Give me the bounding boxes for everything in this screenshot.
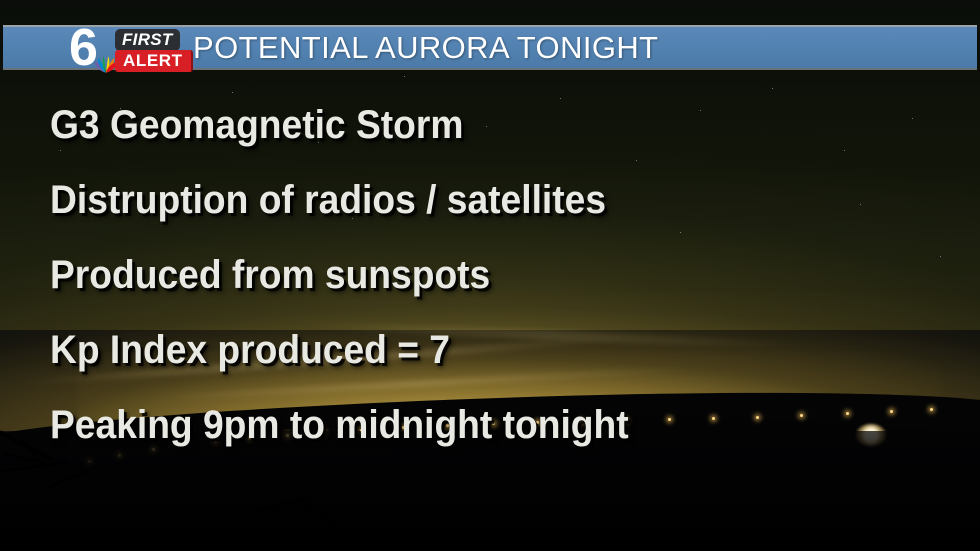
first-label: FIRST [122,30,173,49]
bullet-line: G3 Geomagnetic Storm [50,88,906,163]
alert-badge: ALERT [115,50,193,72]
bullet-line: Distruption of radios / satellites [50,163,906,238]
station-logo[interactable]: 6 FIRST ALERT [3,27,193,68]
broadcast-graphic: 6 FIRST ALERT POTENTIAL AURORA TONIGHT [0,0,980,551]
first-badge: FIRST [115,29,180,51]
bullet-line: Peaking 9pm to midnight tonight [50,388,906,463]
first-alert-banner: 6 FIRST ALERT POTENTIAL AURORA TONIGHT [3,25,977,70]
alert-label: ALERT [123,51,183,70]
bullet-line: Produced from sunspots [50,238,906,313]
banner-headline: POTENTIAL AURORA TONIGHT [193,30,659,66]
bullet-line: Kp Index produced = 7 [50,313,906,388]
bullet-list: G3 Geomagnetic Storm Distruption of radi… [50,88,970,463]
